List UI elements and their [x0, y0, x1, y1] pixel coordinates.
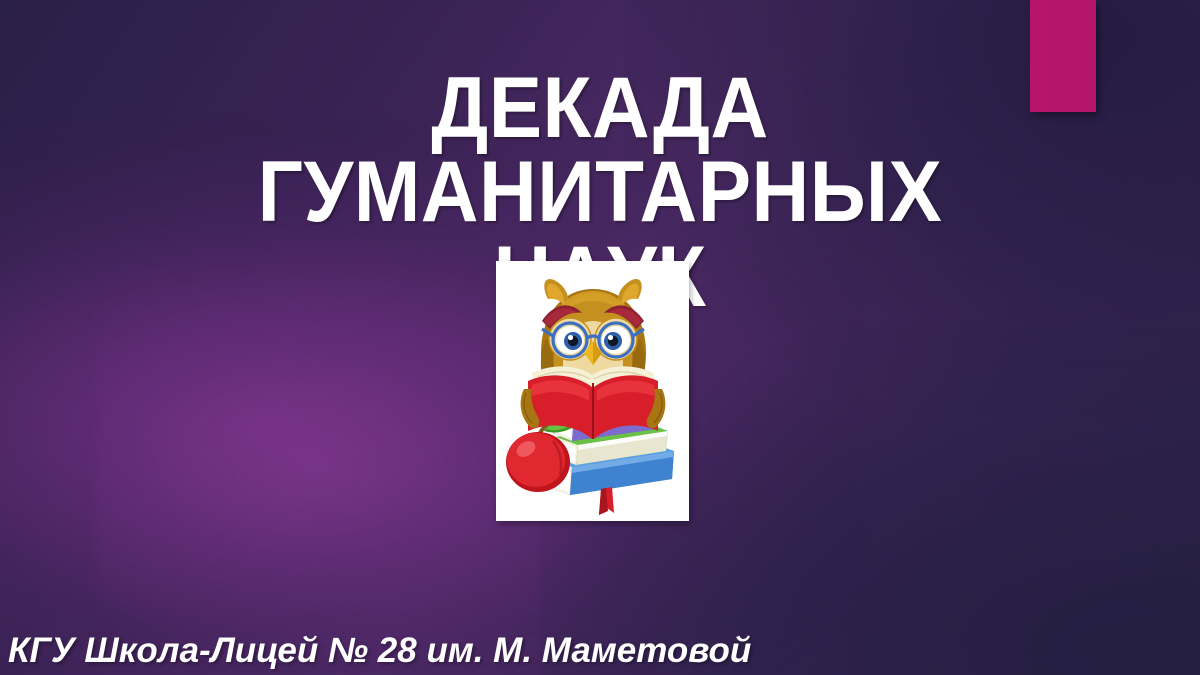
slide-footer: КГУ Школа-Лицей № 28 им. М. Маметовой	[8, 631, 751, 671]
owl-illustration	[496, 261, 689, 521]
presentation-slide: ДЕКАДА ГУМАНИТАРНЫХ НАУК	[0, 0, 1200, 675]
ribbon-bookmark	[599, 487, 614, 515]
owl-illustration-svg	[496, 261, 689, 521]
